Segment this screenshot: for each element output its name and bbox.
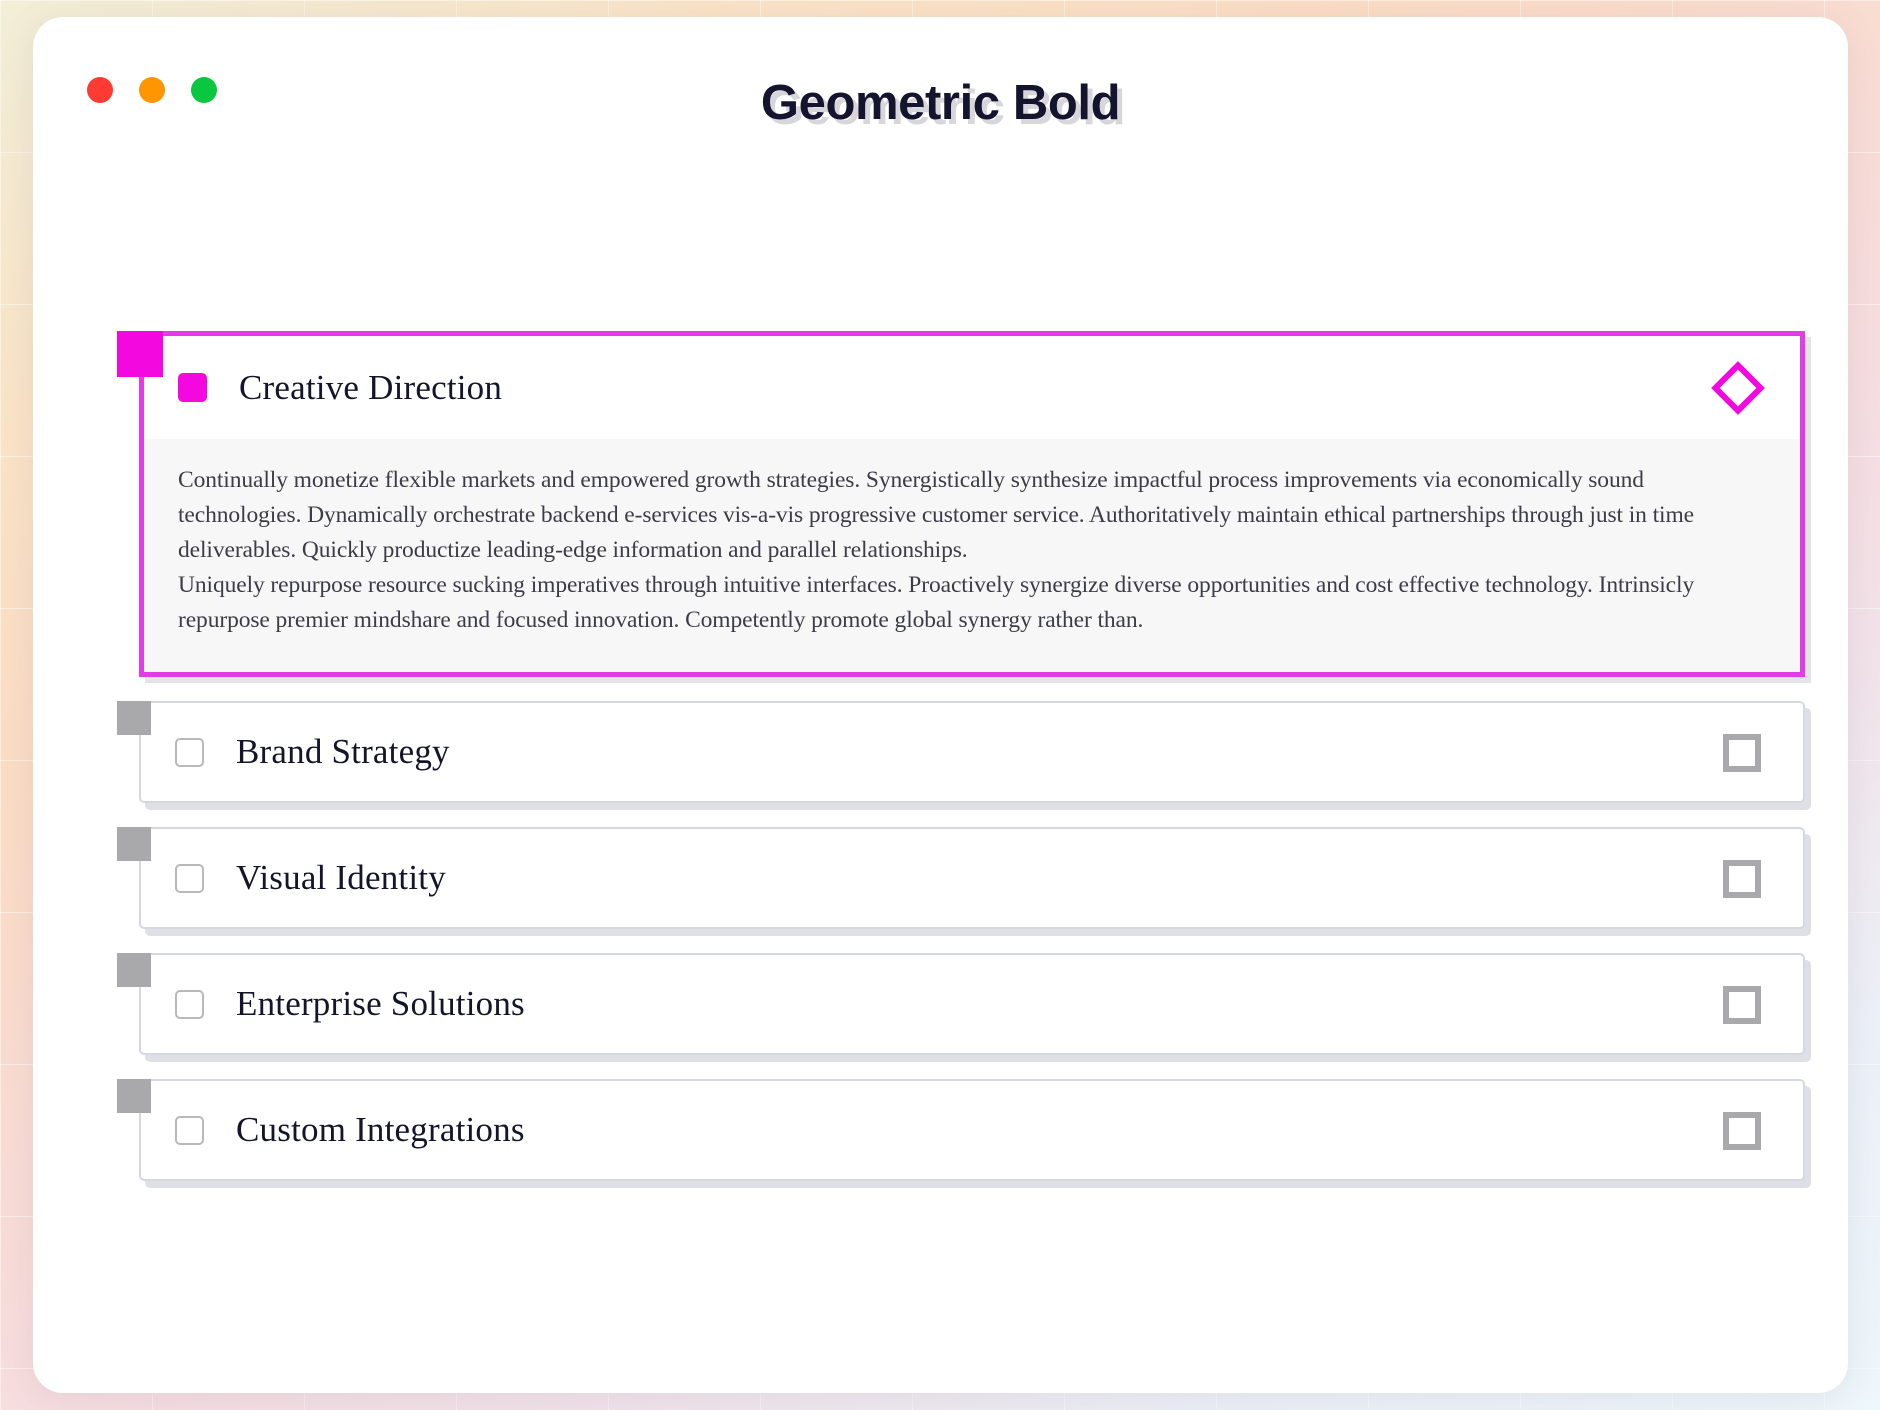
checkbox-unchecked-icon[interactable] <box>175 864 204 893</box>
accordion-item-enterprise-solutions: Enterprise Solutions <box>117 953 1805 1055</box>
accordion-card: Brand Strategy <box>139 701 1805 803</box>
accent-corner-tab <box>117 953 151 987</box>
square-icon[interactable] <box>1713 1102 1769 1158</box>
square-icon[interactable] <box>1713 850 1769 906</box>
square-icon[interactable] <box>1713 976 1769 1032</box>
accent-corner-tab <box>117 331 163 377</box>
window-titlebar: Geometric Bold <box>33 17 1848 145</box>
accordion-card: Visual Identity <box>139 827 1805 929</box>
accordion-item-label: Visual Identity <box>236 858 1713 898</box>
app-window: Geometric Bold Creative Direction Contin… <box>33 17 1848 1393</box>
diamond-icon[interactable] <box>1710 360 1766 416</box>
checkbox-checked-icon[interactable] <box>178 373 207 402</box>
accordion-paragraph: Uniquely repurpose resource sucking impe… <box>178 568 1766 638</box>
accordion-item-creative-direction: Creative Direction Continually monetize … <box>117 331 1805 677</box>
accordion-header[interactable]: Enterprise Solutions <box>141 955 1803 1053</box>
checkbox-unchecked-icon[interactable] <box>175 990 204 1019</box>
accordion-header[interactable]: Creative Direction <box>144 336 1800 439</box>
checkbox-unchecked-icon[interactable] <box>175 738 204 767</box>
checkbox-unchecked-icon[interactable] <box>175 1116 204 1145</box>
accordion-item-label: Enterprise Solutions <box>236 984 1713 1024</box>
accordion-item-label: Brand Strategy <box>236 732 1713 772</box>
accordion-list: Creative Direction Continually monetize … <box>117 313 1805 1181</box>
accent-corner-tab <box>117 827 151 861</box>
accordion-paragraph: Continually monetize flexible markets an… <box>178 463 1766 568</box>
accent-corner-tab <box>117 701 151 735</box>
accordion-header[interactable]: Visual Identity <box>141 829 1803 927</box>
accordion-item-visual-identity: Visual Identity <box>117 827 1805 929</box>
accordion-panel-body: Continually monetize flexible markets an… <box>144 439 1800 672</box>
accordion-card: Creative Direction Continually monetize … <box>139 331 1805 677</box>
accordion-item-brand-strategy: Brand Strategy <box>117 701 1805 803</box>
accordion-item-label: Custom Integrations <box>236 1110 1713 1150</box>
accent-corner-tab <box>117 1079 151 1113</box>
accordion-header[interactable]: Custom Integrations <box>141 1081 1803 1179</box>
accordion-item-custom-integrations: Custom Integrations <box>117 1079 1805 1181</box>
page-title: Geometric Bold <box>33 75 1848 131</box>
accordion-header[interactable]: Brand Strategy <box>141 703 1803 801</box>
accordion-item-label: Creative Direction <box>239 368 1710 408</box>
accordion-card: Enterprise Solutions <box>139 953 1805 1055</box>
accordion-card: Custom Integrations <box>139 1079 1805 1181</box>
square-icon[interactable] <box>1713 724 1769 780</box>
